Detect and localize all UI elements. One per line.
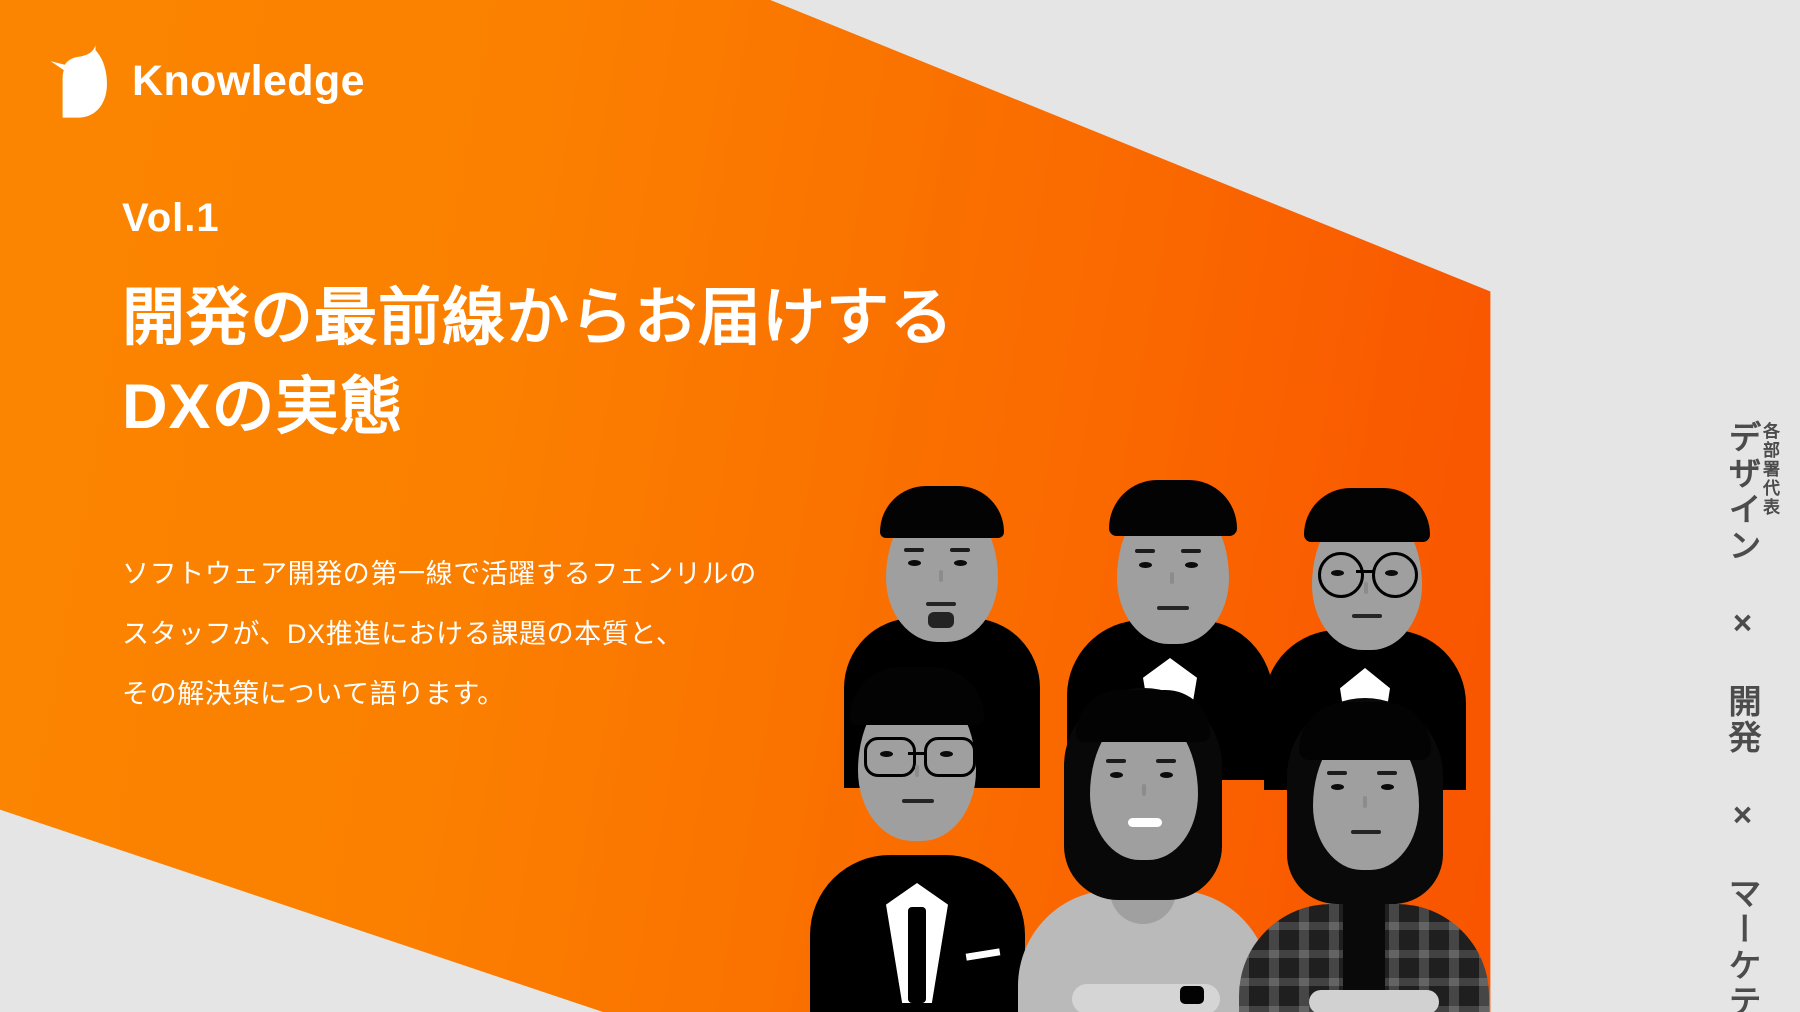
- brand-name: Knowledge: [132, 60, 365, 103]
- team-group-photo: [810, 470, 1490, 1012]
- hero-banner: Knowledge Vol.1 開発の最前線からお届けする DXの実態 ソフトウ…: [0, 0, 1800, 1012]
- brand-logo-lockup[interactable]: Knowledge: [50, 44, 365, 118]
- person-front-left: [810, 645, 1025, 1012]
- side-caption: デザイン × 開発 × マーケティング 各部署代表: [1726, 420, 1778, 1012]
- person-front-right: [1235, 684, 1490, 1012]
- fenrir-wolf-logo-icon: [50, 44, 108, 118]
- volume-label: Vol.1: [122, 196, 1082, 240]
- side-caption-main: デザイン × 開発 × マーケティング: [1726, 420, 1759, 1012]
- lead-line-3: その解決策について語ります。: [122, 665, 882, 725]
- lead-line-1: ソフトウェア開発の第一線で活躍するフェンリルの: [122, 545, 882, 605]
- lead-paragraph: ソフトウェア開発の第一線で活躍するフェンリルの スタッフが、DX推進における課題…: [122, 545, 882, 725]
- lead-line-2: スタッフが、DX推進における課題の本質と、: [122, 605, 882, 665]
- side-caption-sub: 各部署代表: [1761, 422, 1778, 517]
- page-title: 開発の最前線からお届けする DXの実態: [122, 274, 1082, 453]
- headline-line-1: 開発の最前線からお届けする: [122, 274, 1082, 363]
- headline-line-2: DXの実態: [122, 363, 1082, 452]
- headline-block: Vol.1 開発の最前線からお届けする DXの実態: [122, 196, 1082, 453]
